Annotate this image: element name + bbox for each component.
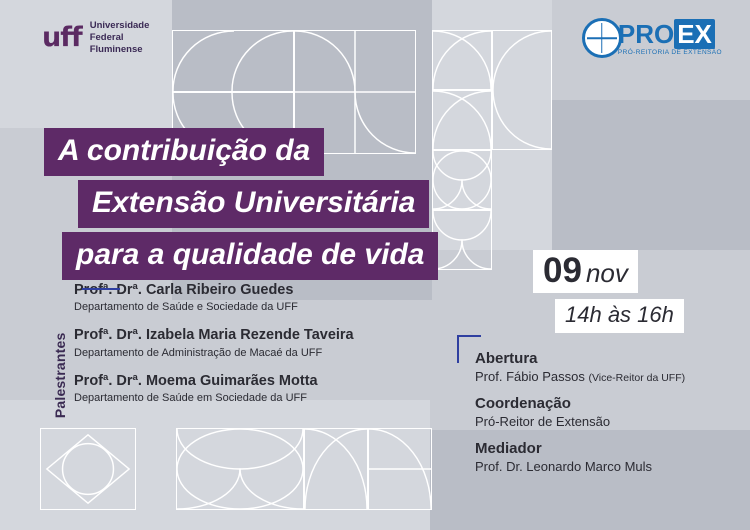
- list-item: Profª. Drª. Carla Ribeiro Guedes Departa…: [74, 282, 354, 313]
- title-line-2: Extensão Universitária: [78, 180, 429, 228]
- program-person-name: Prof. Dr. Leonardo Marco Muls: [475, 459, 652, 474]
- program-rule-vertical: [457, 335, 459, 363]
- speaker-name: Profª. Drª. Moema Guimarães Motta: [74, 373, 354, 390]
- list-item: Abertura Prof. Fábio Passos (Vice-Reitor…: [475, 350, 685, 384]
- pattern-diamond-bottom: [40, 428, 136, 510]
- event-date: 09nov: [533, 250, 638, 293]
- program-person: Prof. Fábio Passos (Vice-Reitor da UFF): [475, 369, 685, 384]
- list-item: Profª. Drª. Moema Guimarães Motta Depart…: [74, 373, 354, 404]
- pattern-flower-bottom-a: [176, 428, 304, 510]
- uff-logo-letters: uff: [42, 24, 82, 51]
- event-month: nov: [586, 258, 628, 288]
- program-person-name: Pró-Reitor de Extensão: [475, 414, 610, 429]
- uff-logo: uff Universidade Federal Fluminense: [42, 20, 149, 56]
- page-title: A contribuição da Extensão Universitária…: [44, 128, 438, 284]
- speaker-name: Profª. Drª. Izabela Maria Rezende Taveir…: [74, 327, 354, 344]
- program-role: Mediador: [475, 440, 685, 457]
- poster-canvas: uff Universidade Federal Fluminense PROE…: [0, 0, 750, 530]
- proex-subtitle: PRÓ-REITORIA DE EXTENSÃO: [618, 49, 722, 56]
- list-item: Coordenação Pró-Reitor de Extensão: [475, 395, 685, 429]
- uff-logo-line1: Universidade: [90, 20, 150, 32]
- proex-wordmark: PROEX: [618, 21, 722, 47]
- program-person: Pró-Reitor de Extensão: [475, 414, 685, 429]
- title-line-3: para a qualidade de vida: [62, 232, 438, 280]
- list-item: Profª. Drª. Izabela Maria Rezende Taveir…: [74, 327, 354, 358]
- speakers-label: Palestrantes: [52, 294, 68, 418]
- proex-word-ex: EX: [674, 19, 715, 49]
- pattern-arc-bottom-c: [368, 428, 432, 510]
- program-role: Coordenação: [475, 395, 685, 412]
- program-role: Abertura: [475, 350, 685, 367]
- uff-logo-line2: Federal: [90, 32, 150, 44]
- event-day: 09: [543, 251, 582, 290]
- pattern-arc-top-left: [172, 30, 294, 92]
- speakers-rule: [82, 288, 120, 290]
- uff-logo-text: Universidade Federal Fluminense: [90, 20, 150, 56]
- program-section: Abertura Prof. Fábio Passos (Vice-Reitor…: [475, 350, 685, 485]
- uff-logo-mark: uff: [42, 24, 82, 51]
- speaker-dept: Departamento de Saúde em Sociedade da UF…: [74, 392, 354, 404]
- speakers-list: Profª. Drª. Carla Ribeiro Guedes Departa…: [74, 282, 354, 418]
- speakers-section: Palestrantes Profª. Drª. Carla Ribeiro G…: [52, 282, 354, 418]
- program-person: Prof. Dr. Leonardo Marco Muls: [475, 459, 685, 474]
- title-line-1: A contribuição da: [44, 128, 324, 176]
- pattern-arc-bottom-b: [304, 428, 368, 510]
- list-item: Mediador Prof. Dr. Leonardo Marco Muls: [475, 440, 685, 474]
- proex-logo-textwrap: PROEX PRÓ-REITORIA DE EXTENSÃO: [618, 21, 722, 56]
- event-time: 14h às 16h: [555, 299, 684, 333]
- program-person-name: Prof. Fábio Passos: [475, 369, 585, 384]
- speaker-dept: Departamento de Saúde e Sociedade da UFF: [74, 301, 354, 313]
- pattern-petal-small-b: [432, 90, 492, 150]
- speaker-name: Profª. Drª. Carla Ribeiro Guedes: [74, 282, 354, 299]
- globe-icon: [582, 18, 622, 58]
- pattern-arc-right: [492, 30, 552, 150]
- bg-block-right: [552, 100, 750, 250]
- program-person-note: (Vice-Reitor da UFF): [588, 372, 685, 384]
- proex-logo: PROEX PRÓ-REITORIA DE EXTENSÃO: [582, 18, 722, 58]
- proex-word-pro: PRO: [618, 19, 674, 49]
- pattern-flower-d: [432, 210, 492, 270]
- event-date-block: 09nov 14h às 16h: [533, 250, 750, 333]
- uff-logo-line3: Fluminense: [90, 44, 150, 56]
- pattern-flower-c: [432, 150, 492, 210]
- pattern-petal-small-a: [432, 30, 492, 90]
- program-rule-horizontal: [457, 335, 481, 337]
- speaker-dept: Departamento de Administração de Macaé d…: [74, 347, 354, 359]
